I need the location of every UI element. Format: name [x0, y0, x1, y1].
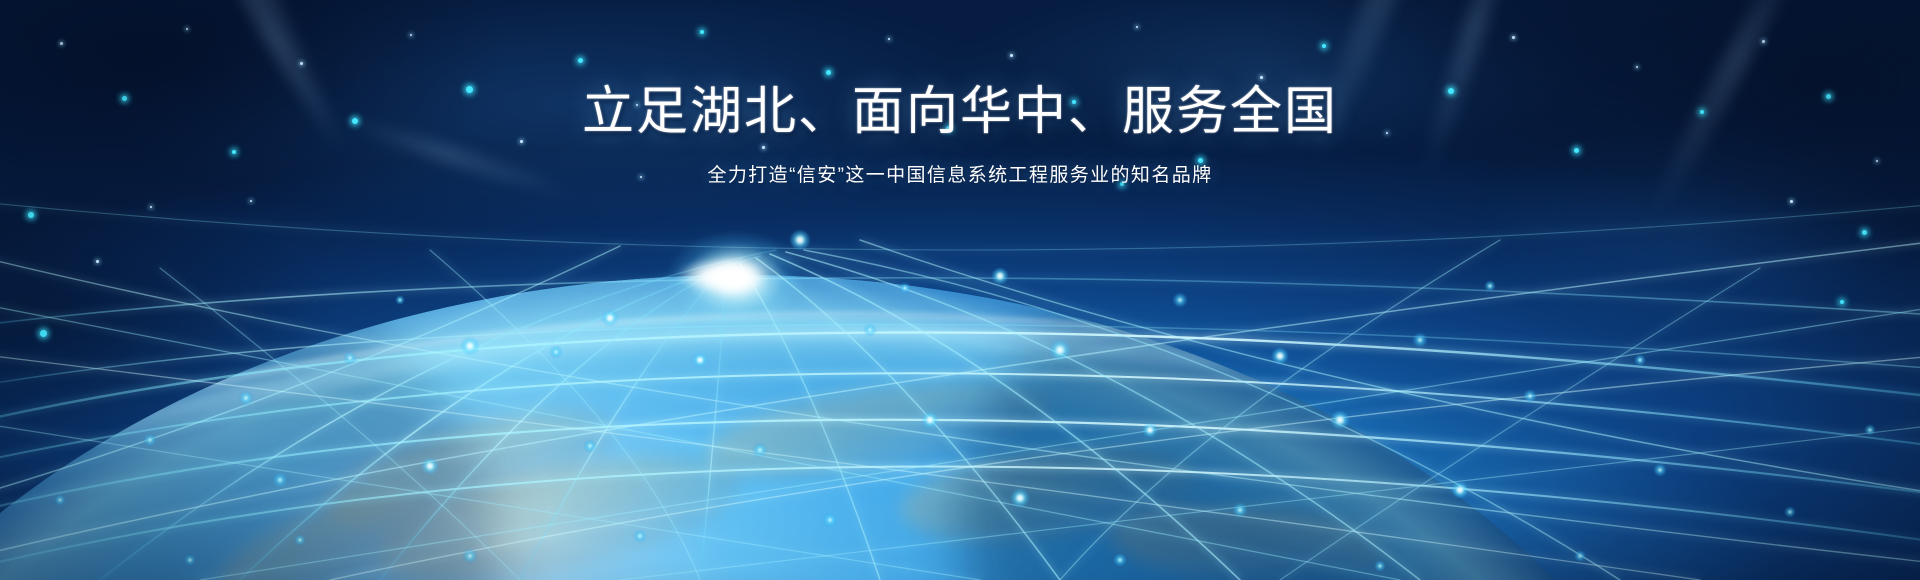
hero-banner: 立足湖北、面向华中、服务全国 全力打造“信安”这一中国信息系统工程服务业的知名品…: [0, 0, 1920, 580]
vignette-overlay: [0, 0, 1920, 580]
